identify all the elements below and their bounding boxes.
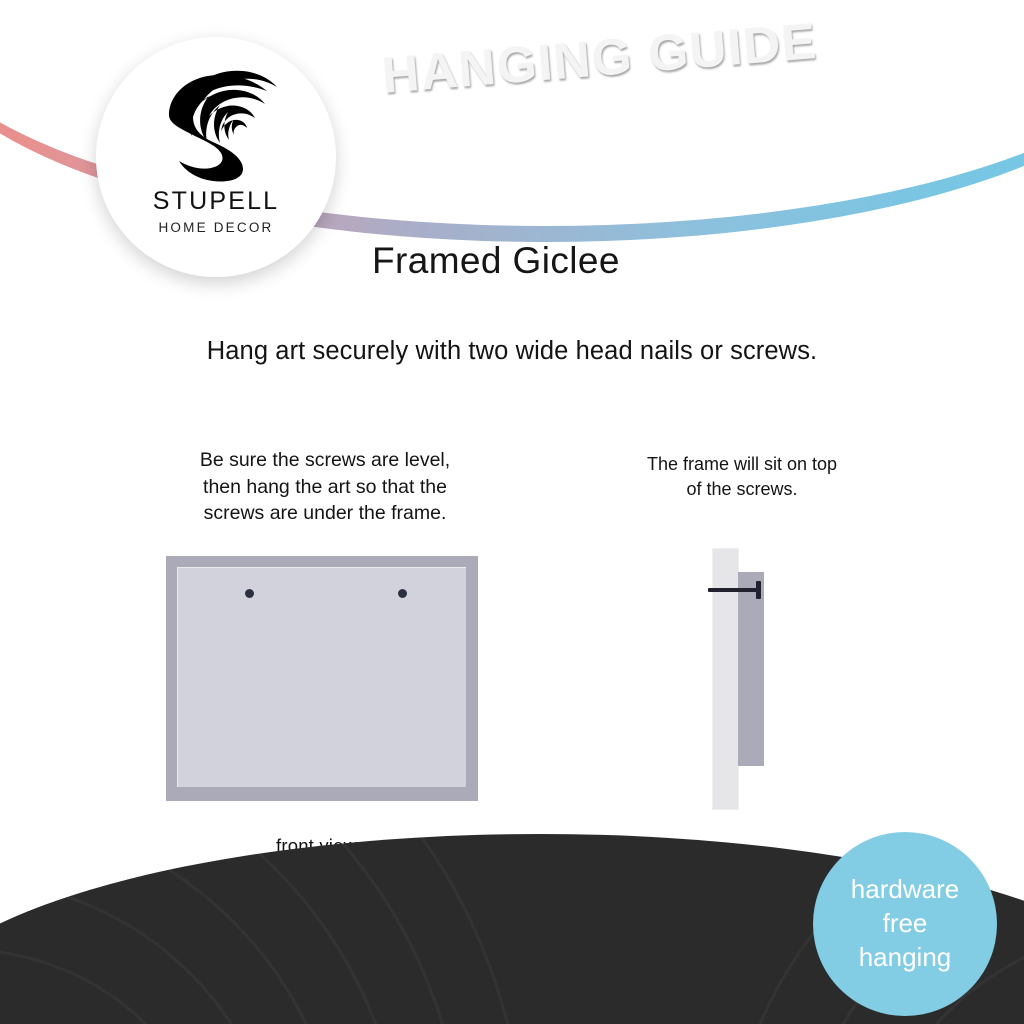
hardware-free-badge-line: hanging: [859, 941, 952, 975]
main-instruction: Hang art securely with two wide head nai…: [0, 337, 1024, 366]
front-view-diagram: [166, 556, 478, 801]
front-view-caption: Be sure the screws are level, then hang …: [160, 447, 490, 527]
front-view-caption-line: then hang the art so that the: [160, 474, 490, 501]
hardware-free-badge-line: hardware: [851, 873, 959, 907]
brand-name: STUPELL: [153, 187, 280, 216]
nail-head-icon: [756, 581, 761, 599]
product-type: Framed Giclee: [372, 240, 620, 282]
side-view-caption-line: of the screws.: [592, 477, 892, 502]
hardware-free-badge: hardware free hanging: [813, 832, 997, 1016]
screw-hole-left-icon: [245, 589, 254, 598]
side-view-caption: The frame will sit on top of the screws.: [592, 452, 892, 502]
hanging-guide-page: HANGING GUIDE STUPELL HOME DECOR Framed …: [0, 0, 1024, 1024]
front-view-caption-line: screws are under the frame.: [160, 500, 490, 527]
hardware-free-badge-line: free: [883, 907, 928, 941]
swirl-texture-line: [0, 834, 526, 1024]
screw-hole-right-icon: [398, 589, 407, 598]
brand-logo-badge: STUPELL HOME DECOR: [96, 37, 336, 277]
front-view-caption-line: Be sure the screws are level,: [160, 447, 490, 474]
side-view-caption-line: The frame will sit on top: [592, 452, 892, 477]
side-view-diagram: [690, 540, 800, 820]
nail-shaft-icon: [708, 588, 760, 592]
frame-mat-area: [177, 567, 466, 787]
frame-profile: [738, 572, 764, 766]
stupell-swoosh-icon: [151, 63, 281, 183]
brand-tagline: HOME DECOR: [158, 220, 273, 235]
